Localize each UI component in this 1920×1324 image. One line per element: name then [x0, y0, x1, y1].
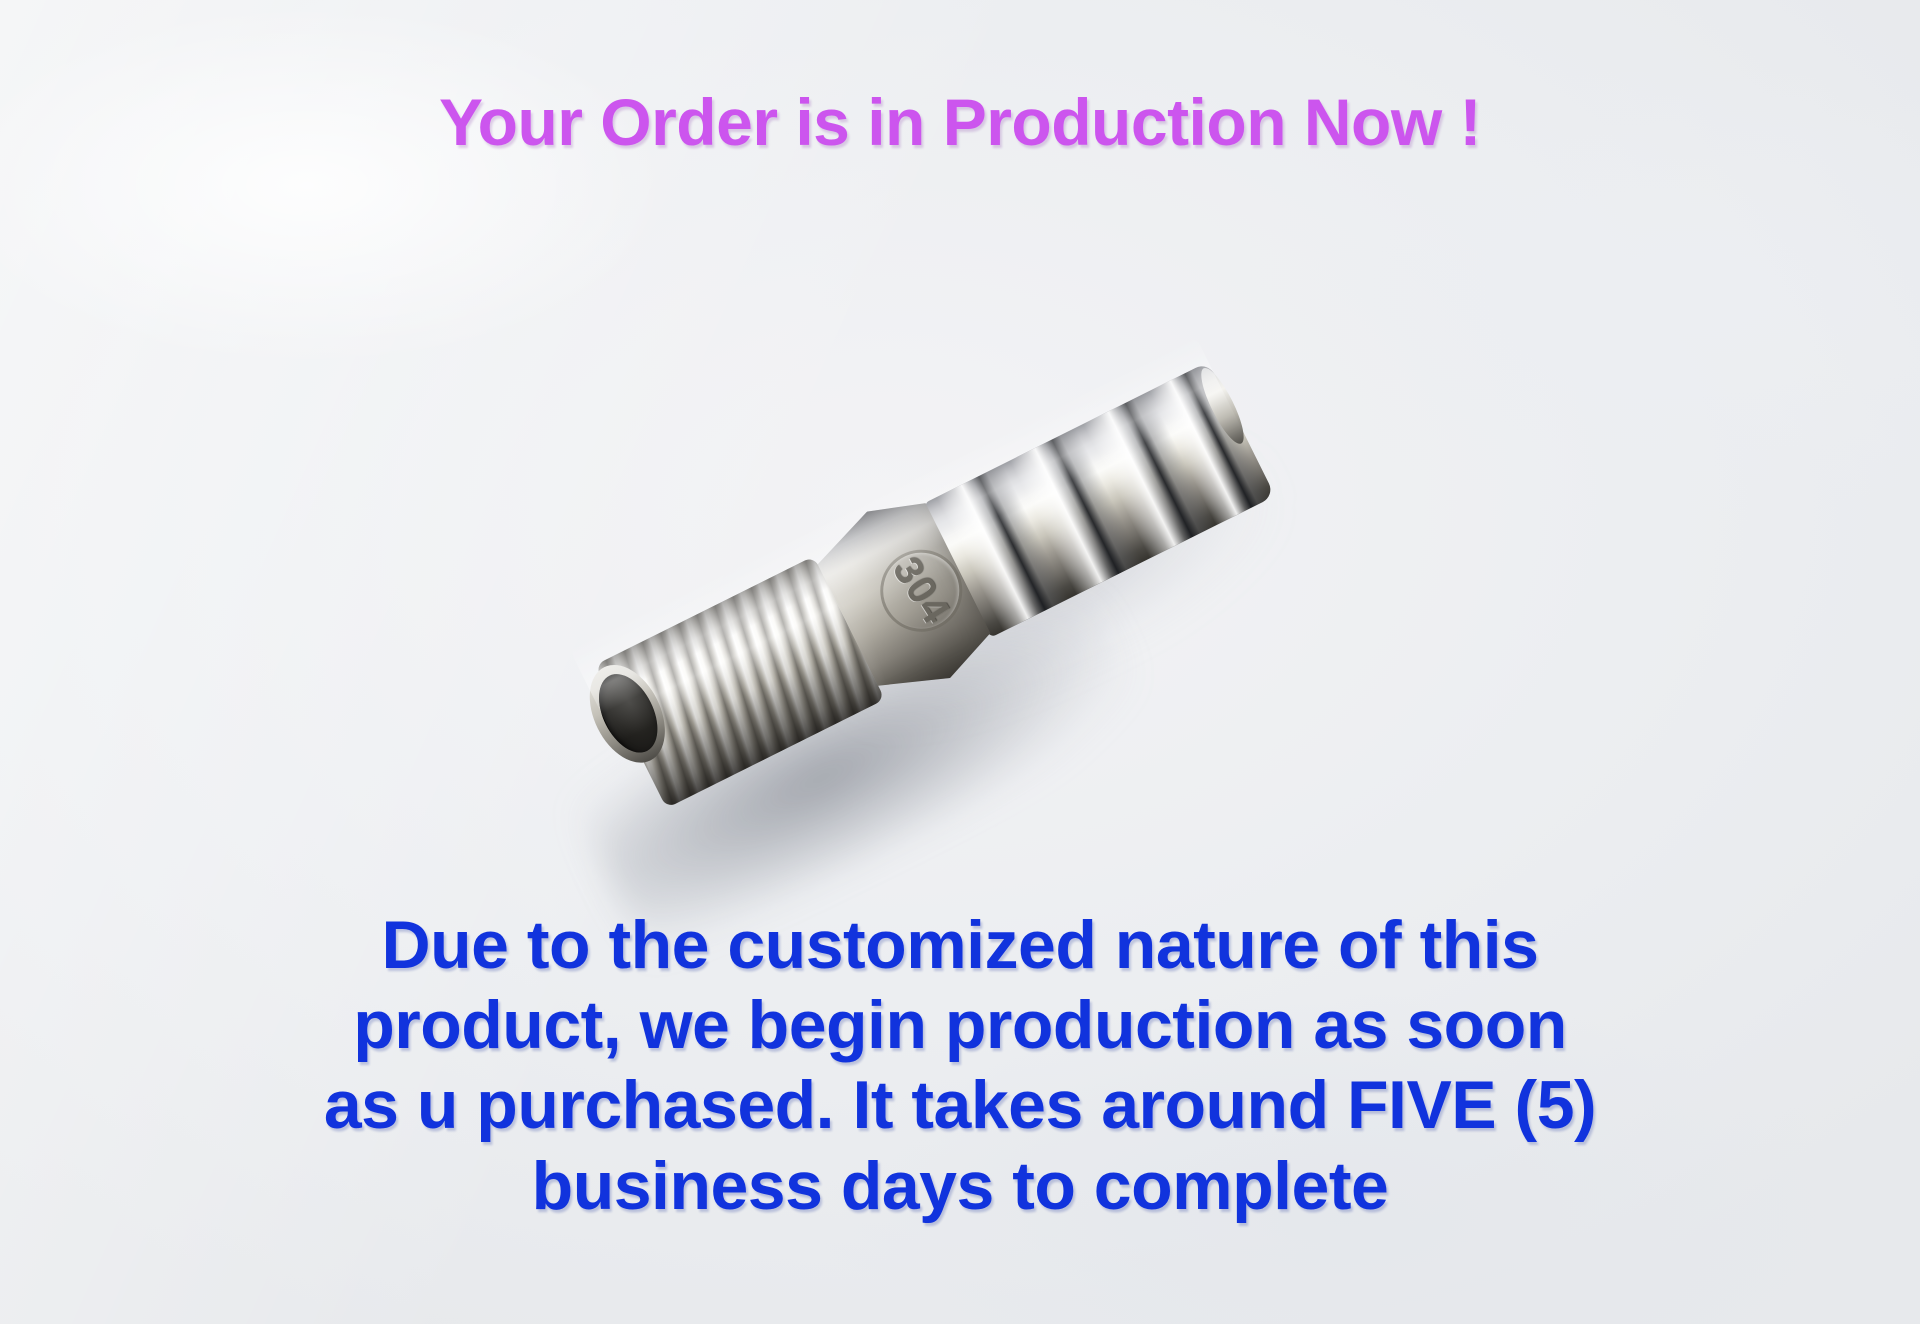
body-copy-line: Due to the customized nature of this: [120, 905, 1800, 985]
body-copy-line: as u purchased. It takes around FIVE (5): [120, 1065, 1800, 1145]
promo-banner: Your Order is in Production Now ! 304: [0, 0, 1920, 1324]
body-copy-line: product, we begin production as soon: [120, 985, 1800, 1065]
page-title: Your Order is in Production Now !: [0, 88, 1920, 157]
product-image: 304: [560, 330, 1380, 890]
body-copy: Due to the customized nature of this pro…: [120, 905, 1800, 1226]
body-copy-line: business days to complete: [120, 1146, 1800, 1226]
